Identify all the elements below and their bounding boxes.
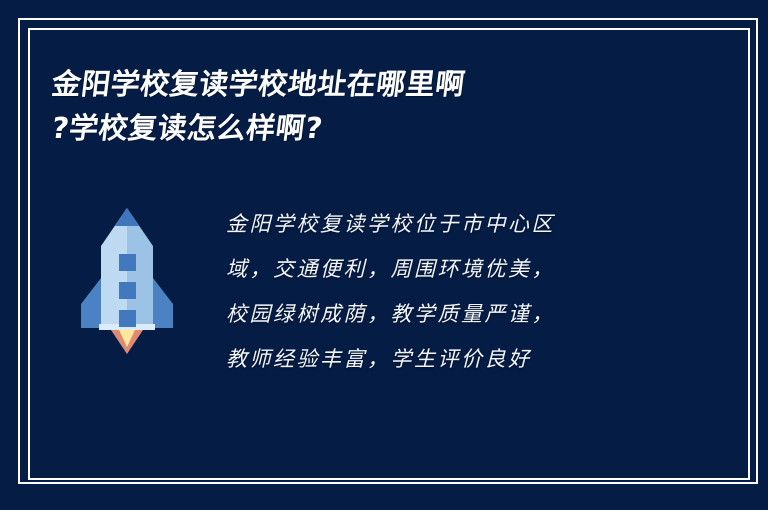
body-line-1: 金阳学校复读学校位于市中心区	[226, 202, 708, 247]
page-title: 金阳学校复读学校地址在哪里啊 ?学校复读怎么样啊?	[52, 62, 692, 150]
body-line-2: 域，交通便利，周围环境优美，	[226, 247, 708, 292]
title-line-2: ?学校复读怎么样啊?	[49, 106, 694, 150]
body-paragraph: 金阳学校复读学校位于市中心区 域，交通便利，周围环境优美， 校园绿树成荫，教学质…	[202, 196, 708, 382]
title-line-1: 金阳学校复读学校地址在哪里啊	[49, 62, 694, 106]
rocket-icon	[52, 196, 202, 354]
poster-canvas: 金阳学校复读学校地址在哪里啊 ?学校复读怎么样啊?	[0, 0, 768, 510]
rocket-illustration-svg	[75, 204, 179, 354]
body-line-3: 校园绿树成荫，教学质量严谨，	[226, 292, 708, 337]
content-row: 金阳学校复读学校位于市中心区 域，交通便利，周围环境优美， 校园绿树成荫，教学质…	[52, 196, 708, 382]
body-line-4: 教师经验丰富，学生评价良好	[226, 337, 708, 382]
